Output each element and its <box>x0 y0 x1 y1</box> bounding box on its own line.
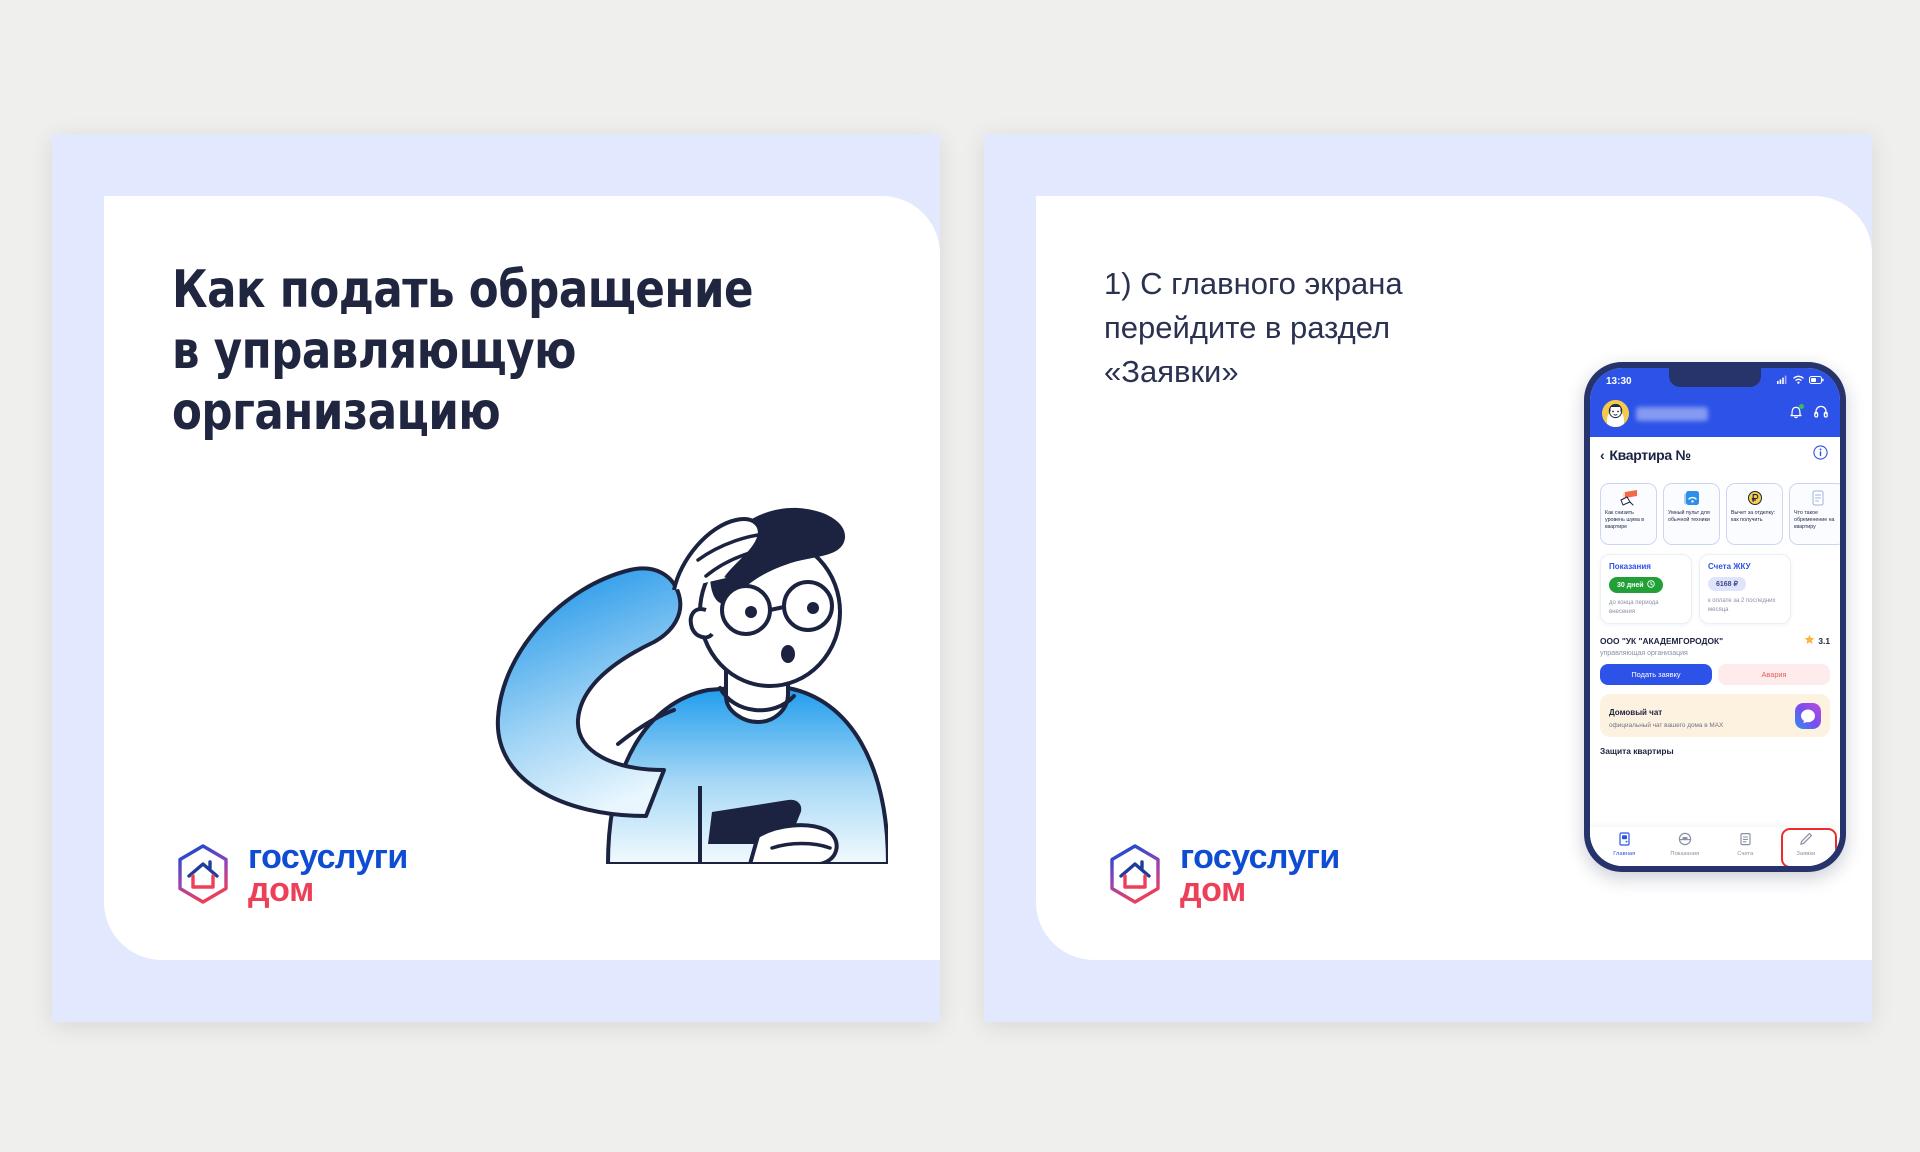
user-avatar[interactable] <box>1602 400 1629 427</box>
clock-icon <box>1647 580 1655 590</box>
brand-word-dom: дом <box>248 874 408 908</box>
apartment-protection-title: Защита квартиры <box>1600 746 1830 756</box>
house-chat-title: Домовый чат <box>1609 708 1662 717</box>
brand-logo-wordmark: госуслуги дом <box>248 841 408 908</box>
brand-logo: госуслуги дом <box>1104 841 1340 908</box>
apartment-number-blurred: 000 <box>1698 447 1745 463</box>
bottom-navigation: Главная Показания Счета <box>1590 827 1840 866</box>
phone-screen: 13:30 <box>1590 368 1840 866</box>
brand-logo: госуслуги дом <box>172 841 408 908</box>
document-icon <box>1809 488 1827 508</box>
submit-request-button[interactable]: Подать заявку <box>1600 664 1712 685</box>
brand-logo-wordmark: госуслуги дом <box>1180 841 1340 908</box>
ruble-coin-icon <box>1745 488 1765 508</box>
star-icon <box>1804 634 1815 647</box>
illustration-man-scratching-head <box>458 464 888 864</box>
app-content: ‹ Квартира № 000 address <box>1590 437 1840 866</box>
bill-icon <box>1739 832 1752 848</box>
brand-word-gosuslugi: госуслуги <box>1180 841 1340 875</box>
step-instruction-line-1: 1) С главного экрана <box>1104 262 1484 306</box>
cellular-signal-icon <box>1777 375 1788 387</box>
nav-item-bills[interactable]: Счета <box>1715 832 1776 857</box>
meter-readings-title: Показания <box>1609 562 1683 571</box>
meter-days-badge: 30 дней <box>1609 577 1663 593</box>
promo-card[interactable]: Вычет за отделку: как получить <box>1726 483 1783 545</box>
promo-card-label: Умный пульт для обычной техники <box>1668 510 1715 524</box>
nav-item-bills-label: Счета <box>1737 851 1753 857</box>
app-header: ЕКАТЕРИНА <box>1590 394 1840 437</box>
nav-item-requests[interactable]: Заявки <box>1776 832 1837 857</box>
hexagon-house-logo-icon <box>172 843 234 905</box>
promo-card[interactable]: Что такое обременение на квартиру <box>1789 483 1840 545</box>
phone-status-bar: 13:30 <box>1590 368 1840 394</box>
meter-icon <box>1678 832 1692 848</box>
nav-item-readings[interactable]: Показания <box>1655 832 1716 857</box>
notification-bell-icon[interactable] <box>1789 404 1803 424</box>
megaphone-icon <box>1618 488 1640 508</box>
promo-cards-row: Как снизить уровень шума в квартире Умны… <box>1590 475 1840 545</box>
step-instruction-line-3: «Заявки» <box>1104 350 1484 394</box>
management-company-rating: 3.1 <box>1804 634 1830 647</box>
slide-step-1: 1) С главного экрана перейдите в раздел … <box>984 134 1872 1022</box>
nav-item-requests-label: Заявки <box>1796 851 1815 857</box>
nav-item-readings-label: Показания <box>1670 851 1699 857</box>
page-title-line-2: в управляющую организацию <box>172 321 842 443</box>
management-company-rating-value: 3.1 <box>1818 636 1830 646</box>
apartment-label: Квартира № <box>1609 447 1690 463</box>
info-circle-icon[interactable] <box>1813 445 1828 465</box>
management-company-block: ООО "УК "АКАДЕМГОРОДОК" 3.1 управляющая … <box>1590 624 1840 685</box>
apartment-address-blurred: address <box>1608 467 1758 475</box>
hexagon-house-logo-icon <box>1104 843 1166 905</box>
meter-readings-subtitle: до конца периода внесения <box>1609 599 1683 616</box>
page-title: Как подать обращение в управляющую орган… <box>172 260 842 442</box>
bills-subtitle: к оплате за 2 последних месяца <box>1708 597 1782 614</box>
slide-step-1-card: 1) С главного экрана перейдите в раздел … <box>1036 196 1872 960</box>
wifi-icon <box>1793 375 1804 387</box>
door-icon <box>1618 832 1631 848</box>
house-chat-subtitle: официальный чат вашего дома в MAX <box>1609 722 1723 729</box>
phone-notch <box>1669 368 1761 387</box>
bills-amount-badge: 6168 ₽ <box>1708 577 1746 591</box>
management-company-subtitle: управляющая организация <box>1600 650 1830 657</box>
user-name: ЕКАТЕРИНА <box>1636 407 1708 421</box>
summary-cards-row: Показания 30 дней до конца периода внесе… <box>1590 545 1840 624</box>
management-company-name: ООО "УК "АКАДЕМГОРОДОК" <box>1600 636 1723 646</box>
phone-mockup: 13:30 <box>1584 362 1846 872</box>
status-bar-time: 13:30 <box>1606 376 1632 387</box>
nav-item-main[interactable]: Главная <box>1594 832 1655 857</box>
promo-card-label: Как снизить уровень шума в квартире <box>1605 510 1652 531</box>
back-chevron-icon[interactable]: ‹ <box>1600 447 1604 463</box>
step-instruction-line-2: перейдите в раздел <box>1104 306 1484 350</box>
step-instruction: 1) С главного экрана перейдите в раздел … <box>1104 262 1484 394</box>
emergency-button[interactable]: Авария <box>1718 664 1830 685</box>
headset-support-icon[interactable] <box>1814 404 1828 423</box>
bills-title: Счета ЖКУ <box>1708 562 1782 571</box>
bills-card[interactable]: Счета ЖКУ 6168 ₽ к оплате за 2 последних… <box>1699 554 1791 624</box>
brand-word-gosuslugi: госуслуги <box>248 841 408 875</box>
promo-card-label: Что такое обременение на квартиру <box>1794 510 1840 531</box>
meter-days-badge-label: 30 дней <box>1617 582 1644 589</box>
pencil-icon <box>1799 832 1813 848</box>
page-title-line-1: Как подать обращение <box>172 260 842 321</box>
promo-card-label: Вычет за отделку: как получить <box>1731 510 1778 524</box>
apartment-title-row: ‹ Квартира № 000 <box>1590 437 1840 465</box>
max-messenger-icon <box>1795 703 1821 729</box>
brand-word-dom: дом <box>1180 874 1340 908</box>
slide-intro: Как подать обращение в управляющую орган… <box>52 134 940 1022</box>
promo-card[interactable]: Умный пульт для обычной техники <box>1663 483 1720 545</box>
slide-intro-card: Как подать обращение в управляющую орган… <box>104 196 940 960</box>
battery-icon <box>1809 376 1824 387</box>
smart-remote-icon <box>1682 488 1702 508</box>
promo-card[interactable]: Как снизить уровень шума в квартире <box>1600 483 1657 545</box>
meter-readings-card[interactable]: Показания 30 дней до конца периода внесе… <box>1600 554 1692 624</box>
nav-item-main-label: Главная <box>1613 851 1635 857</box>
house-chat-card[interactable]: Домовый чат официальный чат вашего дома … <box>1600 694 1830 737</box>
